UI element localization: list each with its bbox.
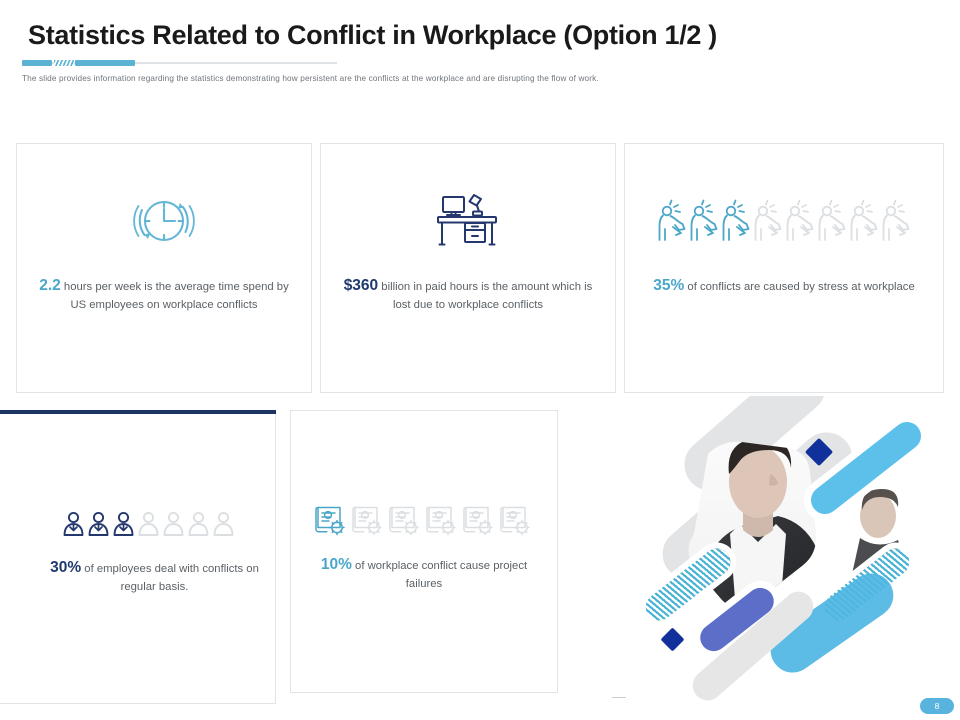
stressed-person-icon [817,199,847,243]
person-icon [212,511,235,537]
stat-text: 10% of workplace conflict cause project … [305,556,543,593]
stressed-person-icon [785,199,815,243]
document-gear-icon [463,505,497,537]
stat-card-paid-hours-lost: $360 billion in paid hours is the amount… [320,143,616,393]
slide-root: Statistics Related to Conflict in Workpl… [0,0,960,720]
document-gear-icon [315,505,349,537]
stat-text: 30% of employees deal with conflicts on … [48,559,261,596]
stat-value: 30% [50,559,81,576]
stat-card-hours-per-week: 2.2 hours per week is the average time s… [16,143,312,393]
person-icon [62,511,85,537]
footer-tick [612,697,626,698]
person-icon [137,511,160,537]
document-gear-icon [352,505,386,537]
stat-text: 35% of conflicts are caused by stress at… [641,277,927,297]
rule-segment-striped [54,60,74,66]
page-title: Statistics Related to Conflict in Workpl… [28,20,717,51]
stat-text: $360 billion in paid hours is the amount… [337,277,599,314]
person-icon [87,511,110,537]
rule-segment-solid-left [22,60,52,66]
stressed-person-icon [849,199,879,243]
person-icon [187,511,210,537]
document-gear-icon [500,505,534,537]
stressed-person-icon [881,199,911,243]
stat-description: billion in paid hours is the amount whic… [378,281,592,311]
stressed-person-icon [753,199,783,243]
stat-description: of conflicts are caused by stress at wor… [684,281,914,293]
person-icon [112,511,135,537]
page-number-badge: 8 [920,698,954,714]
stat-card-project-failures: 10% of workplace conflict cause project … [290,410,558,693]
stat-description: of workplace conflict cause project fail… [352,560,527,590]
stat-value: $360 [344,277,378,294]
stat-value: 10% [321,556,352,573]
desk-computer-lamp-icon [321,184,615,258]
clock-refresh-icon [17,184,311,258]
document-gear-icon [426,505,460,537]
person-icon-row [0,502,275,546]
stat-card-employees-regular-basis: 30% of employees deal with conflicts on … [0,414,276,704]
page-subtitle: The slide provides information regarding… [22,74,599,83]
title-accent-rule [22,59,337,67]
rule-segment-solid-right [75,60,135,66]
decorative-collage: 8 [612,396,960,720]
stressed-person-icon [721,199,751,243]
stat-description: of employees deal with conflicts on regu… [81,563,259,593]
stat-text: 2.2 hours per week is the average time s… [33,277,295,314]
stat-card-stress-conflicts: 35% of conflicts are caused by stress at… [624,143,944,393]
stressed-person-icon [657,199,687,243]
person-icon [162,511,185,537]
document-gear-icon-row [291,499,557,543]
stat-value: 2.2 [39,277,61,294]
stressed-person-icon-row [625,184,943,258]
stat-description: hours per week is the average time spend… [61,281,289,311]
stat-value: 35% [653,277,684,294]
document-gear-icon [389,505,423,537]
stressed-person-icon [689,199,719,243]
